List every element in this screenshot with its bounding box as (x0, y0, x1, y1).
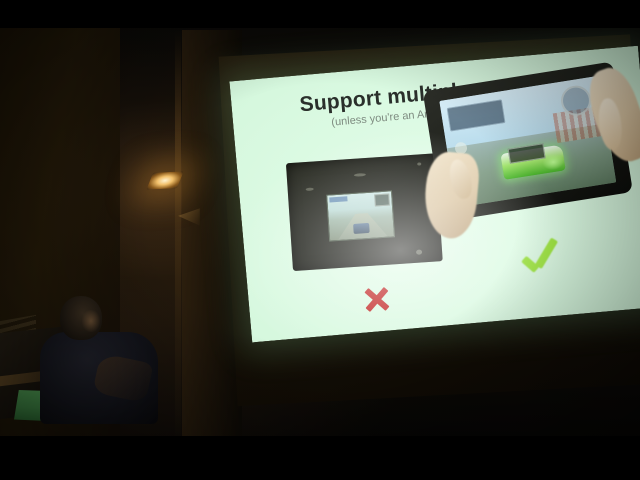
check-stroke (535, 237, 558, 269)
device-marking (306, 188, 314, 192)
check-mark-icon (518, 239, 562, 280)
screenshot-frame: Support multiple screen sizes (unless yo… (0, 0, 640, 480)
game-hud-left (329, 196, 347, 202)
presenter-face (82, 310, 100, 332)
device-marking (354, 173, 366, 177)
thumb (446, 157, 474, 200)
unscaled-game-window (326, 190, 395, 241)
presenter (34, 296, 164, 426)
game-car (353, 223, 370, 234)
projected-slide: Support multiple screen sizes (unless yo… (229, 46, 640, 343)
wall-seam (175, 30, 181, 450)
device-marking (416, 249, 422, 254)
game-hud-right (374, 194, 390, 207)
letterbox-top (0, 0, 640, 28)
letterbox-bottom (0, 436, 640, 480)
device-camera-icon (417, 162, 421, 165)
x-mark-icon (360, 283, 392, 315)
tablet-bad-example (286, 153, 443, 271)
